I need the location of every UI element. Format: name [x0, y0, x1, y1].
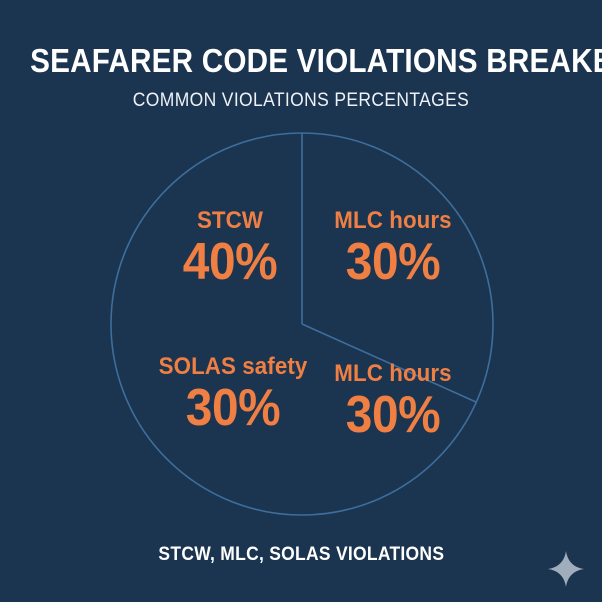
pie-slice-name: STCW — [157, 207, 302, 234]
pie-slice-value: 30% — [147, 380, 318, 436]
pie-chart-svg — [0, 0, 602, 602]
pie-slice-label-stcw: STCW 40% — [152, 207, 308, 290]
footer: STCW, MLC, SOLAS VIOLATIONS — [0, 543, 602, 566]
pie-slice-label-mlc-hours-lower: MLC hours 30% — [308, 360, 478, 443]
infographic-poster: SEAFARER CODE VIOLATIONS BREAKBOWN COMMO… — [0, 0, 602, 602]
pie-slice-value: 30% — [315, 387, 471, 443]
sparkle-icon — [546, 549, 586, 589]
pie-chart: STCW 40% MLC hours 30% SOLAS safety 30% … — [0, 0, 602, 602]
pie-slice-name: MLC hours — [316, 207, 470, 234]
pie-slice-label-mlc-hours-upper: MLC hours 30% — [310, 207, 476, 290]
pie-slice-value: 30% — [317, 234, 470, 290]
pie-slice-name: MLC hours — [314, 360, 472, 387]
pie-slice-label-solas-safety: SOLAS safety 30% — [140, 353, 326, 436]
pie-slice-name: SOLAS safety — [147, 353, 320, 380]
footer-caption: STCW, MLC, SOLAS VIOLATIONS — [158, 543, 444, 566]
pie-slice-value: 40% — [158, 234, 302, 290]
